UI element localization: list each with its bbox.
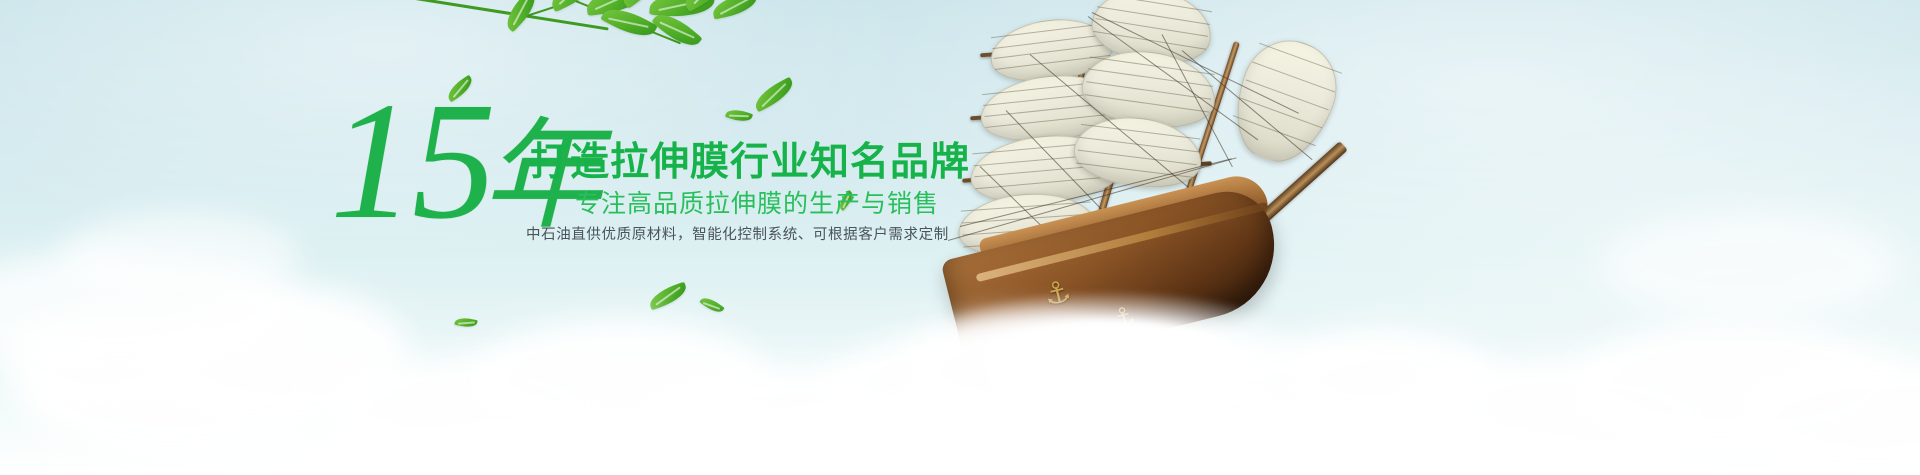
sea-foam (890, 290, 1330, 440)
banner-text-block: 15年 打造拉伸膜行业知名品牌 专注高品质拉伸膜的生产与销售 中石油直供优质原材… (330, 92, 930, 272)
leaf-icon (454, 316, 477, 329)
years-number: 15 (330, 68, 494, 254)
hero-banner: ⚓ ⚓ 15年 打造拉伸膜行业知名品牌 专注高品质拉伸膜的生产与销售 中石油直供… (0, 0, 1920, 475)
leaf-icon (646, 282, 689, 311)
leaf-icon (711, 0, 760, 20)
leaf-icon (699, 294, 724, 316)
banner-headline: 打造拉伸膜行业知名品牌 (530, 142, 970, 184)
banner-tagline: 中石油直供优质原材料，智能化控制系统、可根据客户需求定制 (526, 226, 949, 244)
banner-subline: 专注高品质拉伸膜的生产与销售 (575, 190, 939, 218)
